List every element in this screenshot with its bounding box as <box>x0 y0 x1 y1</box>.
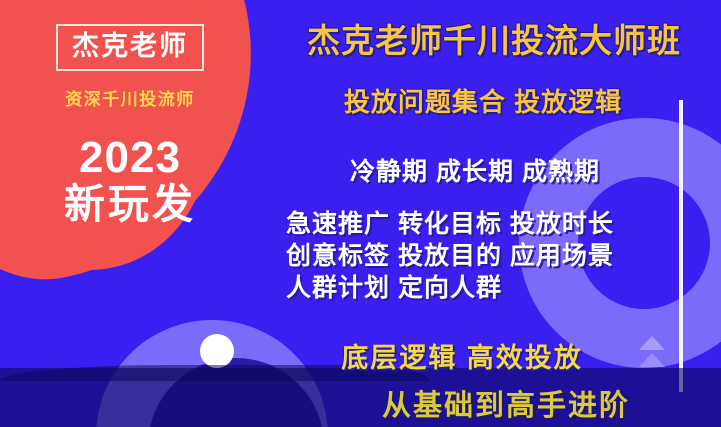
course-topic-list: 急速推广 转化目标 投放时长 创意标签 投放目的 应用场景 人群计划 定向人群 <box>286 208 721 304</box>
instructor-name-box: 杰克老师 <box>56 24 204 71</box>
tagline-label: 新玩发 <box>0 183 260 226</box>
course-footer-primary: 底层逻辑 高效投放 <box>262 336 662 375</box>
promo-banner: 杰克老师 资深千川投流师 2023 新玩发 杰克老师千川投流大师班 投放问题集合… <box>0 0 721 427</box>
instructor-panel: 杰克老师 资深千川投流师 2023 新玩发 <box>0 0 260 330</box>
course-footer-secondary: 从基础到高手进阶 <box>306 382 706 424</box>
instructor-subtitle: 资深千川投流师 <box>0 85 260 110</box>
topic-row: 人群计划 定向人群 <box>286 272 721 304</box>
year-label: 2023 <box>0 136 260 181</box>
course-phase-line: 冷静期 成长期 成熟期 <box>268 152 682 188</box>
topic-row: 急速推广 转化目标 投放时长 <box>286 208 721 240</box>
course-subheadline: 投放问题集合 投放逻辑 <box>268 82 698 119</box>
instructor-name: 杰克老师 <box>72 31 188 61</box>
white-dot-shape <box>200 334 234 368</box>
course-content-panel: 杰克老师千川投流大师班 投放问题集合 投放逻辑 冷静期 成长期 成熟期 急速推广… <box>262 0 721 427</box>
course-headline: 杰克老师千川投流大师班 <box>268 14 720 62</box>
topic-row: 创意标签 投放目的 应用场景 <box>286 240 721 272</box>
